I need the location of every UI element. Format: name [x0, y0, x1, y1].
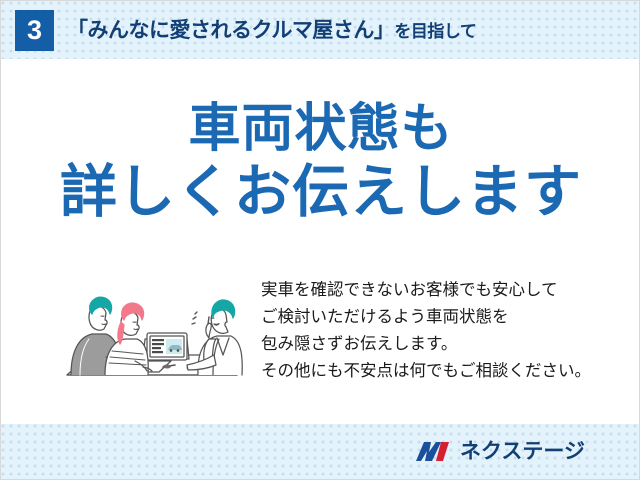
body-copy-line-1: 実車を確認できないお客様でも安心して: [261, 277, 591, 304]
header-title: 「みんなに愛されるクルマ屋さん」を目指して: [67, 20, 476, 41]
header-title-quoted: 「みんなに愛されるクルマ屋さん」: [67, 19, 394, 42]
brand-lockup: ネクステージ: [415, 439, 585, 464]
headline: 車両状態も 詳しくお伝えします: [1, 99, 640, 225]
headline-line-2: 詳しくお伝えします: [1, 159, 640, 225]
brand-name: ネクステージ: [460, 441, 585, 462]
body-copy-line-2: ご検討いただけるよう車両状態を: [261, 304, 591, 331]
promo-banner: 3 「みんなに愛されるクルマ屋さん」を目指して 車両状態も 詳しくお伝えします: [0, 0, 640, 480]
step-number-badge: 3: [15, 10, 54, 51]
consultation-illustration: [59, 277, 249, 389]
nextage-n-logo-icon: [415, 439, 453, 464]
banner-footer: ネクステージ: [1, 424, 640, 479]
body-copy: 実車を確認できないお客様でも安心して ご検討いただけるよう車両状態を 包み隠さず…: [261, 277, 591, 385]
content-row: 実車を確認できないお客様でも安心して ご検討いただけるよう車両状態を 包み隠さず…: [1, 277, 640, 397]
body-copy-line-3: 包み隠さずお伝えします。: [261, 331, 591, 358]
header-title-tail: を目指して: [394, 22, 476, 41]
headline-line-1: 車両状態も: [1, 99, 640, 159]
banner-header: 3 「みんなに愛されるクルマ屋さん」を目指して: [1, 1, 640, 59]
body-copy-line-4: その他にも不安点は何でもご相談ください。: [261, 358, 591, 385]
